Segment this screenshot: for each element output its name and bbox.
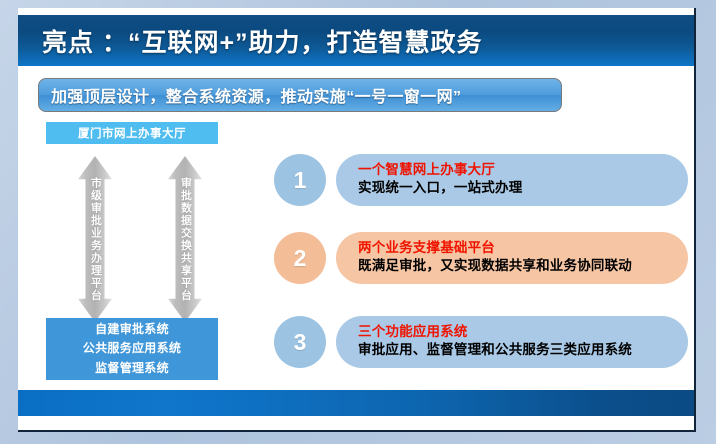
systems-box: 自建审批系统 公共服务应用系统 监督管理系统 — [46, 318, 218, 380]
list-item: 1 一个智慧网上办事大厅 实现统一入口，一站式办理 — [262, 146, 696, 214]
slide-footer-bar — [18, 390, 696, 416]
dept-header-bar: 厦门市网上办事大厅 — [46, 122, 218, 144]
slide-canvas: 亮点 ：“互联网+”助力，打造智慧政务 加强顶层设计，整合系统资源，推动实施“一… — [18, 8, 696, 432]
systems-line-2: 公共服务应用系统 — [83, 339, 181, 358]
item-number-badge-2: 2 — [274, 232, 326, 284]
systems-line-3: 监督管理系统 — [95, 359, 169, 378]
item-heading-1: 一个智慧网上办事大厅 — [358, 161, 688, 179]
item-pill-3: 三个功能应用系统 审批应用、监督管理和公共服务三类应用系统 — [336, 316, 688, 368]
item-pill-2: 两个业务支撑基础平台 既满足审批，又实现数据共享和业务协同联动 — [336, 232, 688, 284]
up-down-arrow-icon-exchange: 审批数据交换共享平台 — [168, 156, 202, 322]
item-heading-2: 两个业务支撑基础平台 — [358, 239, 688, 257]
list-item: 2 两个业务支撑基础平台 既满足审批，又实现数据共享和业务协同联动 — [262, 224, 696, 292]
up-down-arrow-icon-approval: 市级审批业务办理平台 — [78, 156, 112, 322]
item-description-1: 实现统一入口，一站式办理 — [358, 179, 688, 198]
dept-header-label: 厦门市网上办事大厅 — [78, 125, 186, 141]
item-description-2: 既满足审批，又实现数据共享和业务协同联动 — [358, 257, 688, 276]
highlight-items-list: 1 一个智慧网上办事大厅 实现统一入口，一站式办理 2 两个业务支撑基础平台 既… — [262, 8, 696, 432]
item-number-badge-3: 3 — [274, 316, 326, 368]
item-number-badge-1: 1 — [274, 154, 326, 206]
left-diagram: 厦门市网上办事大厅 市级审批业务办理平台 审批数据交换共享平台 自建审批系统 公… — [18, 8, 258, 432]
item-heading-3: 三个功能应用系统 — [358, 323, 688, 341]
systems-line-1: 自建审批系统 — [95, 320, 169, 339]
arrow-label-approval: 市级审批业务办理平台 — [90, 177, 101, 302]
list-item: 3 三个功能应用系统 审批应用、监督管理和公共服务三类应用系统 — [262, 308, 696, 376]
slide-frame: 亮点 ：“互联网+”助力，打造智慧政务 加强顶层设计，整合系统资源，推动实施“一… — [0, 0, 716, 444]
item-description-3: 审批应用、监督管理和公共服务三类应用系统 — [358, 341, 688, 360]
item-number-1: 1 — [294, 167, 307, 194]
item-pill-1: 一个智慧网上办事大厅 实现统一入口，一站式办理 — [336, 154, 688, 206]
arrow-label-exchange: 审批数据交换共享平台 — [180, 177, 191, 302]
item-number-2: 2 — [294, 245, 307, 272]
item-number-3: 3 — [294, 329, 307, 356]
